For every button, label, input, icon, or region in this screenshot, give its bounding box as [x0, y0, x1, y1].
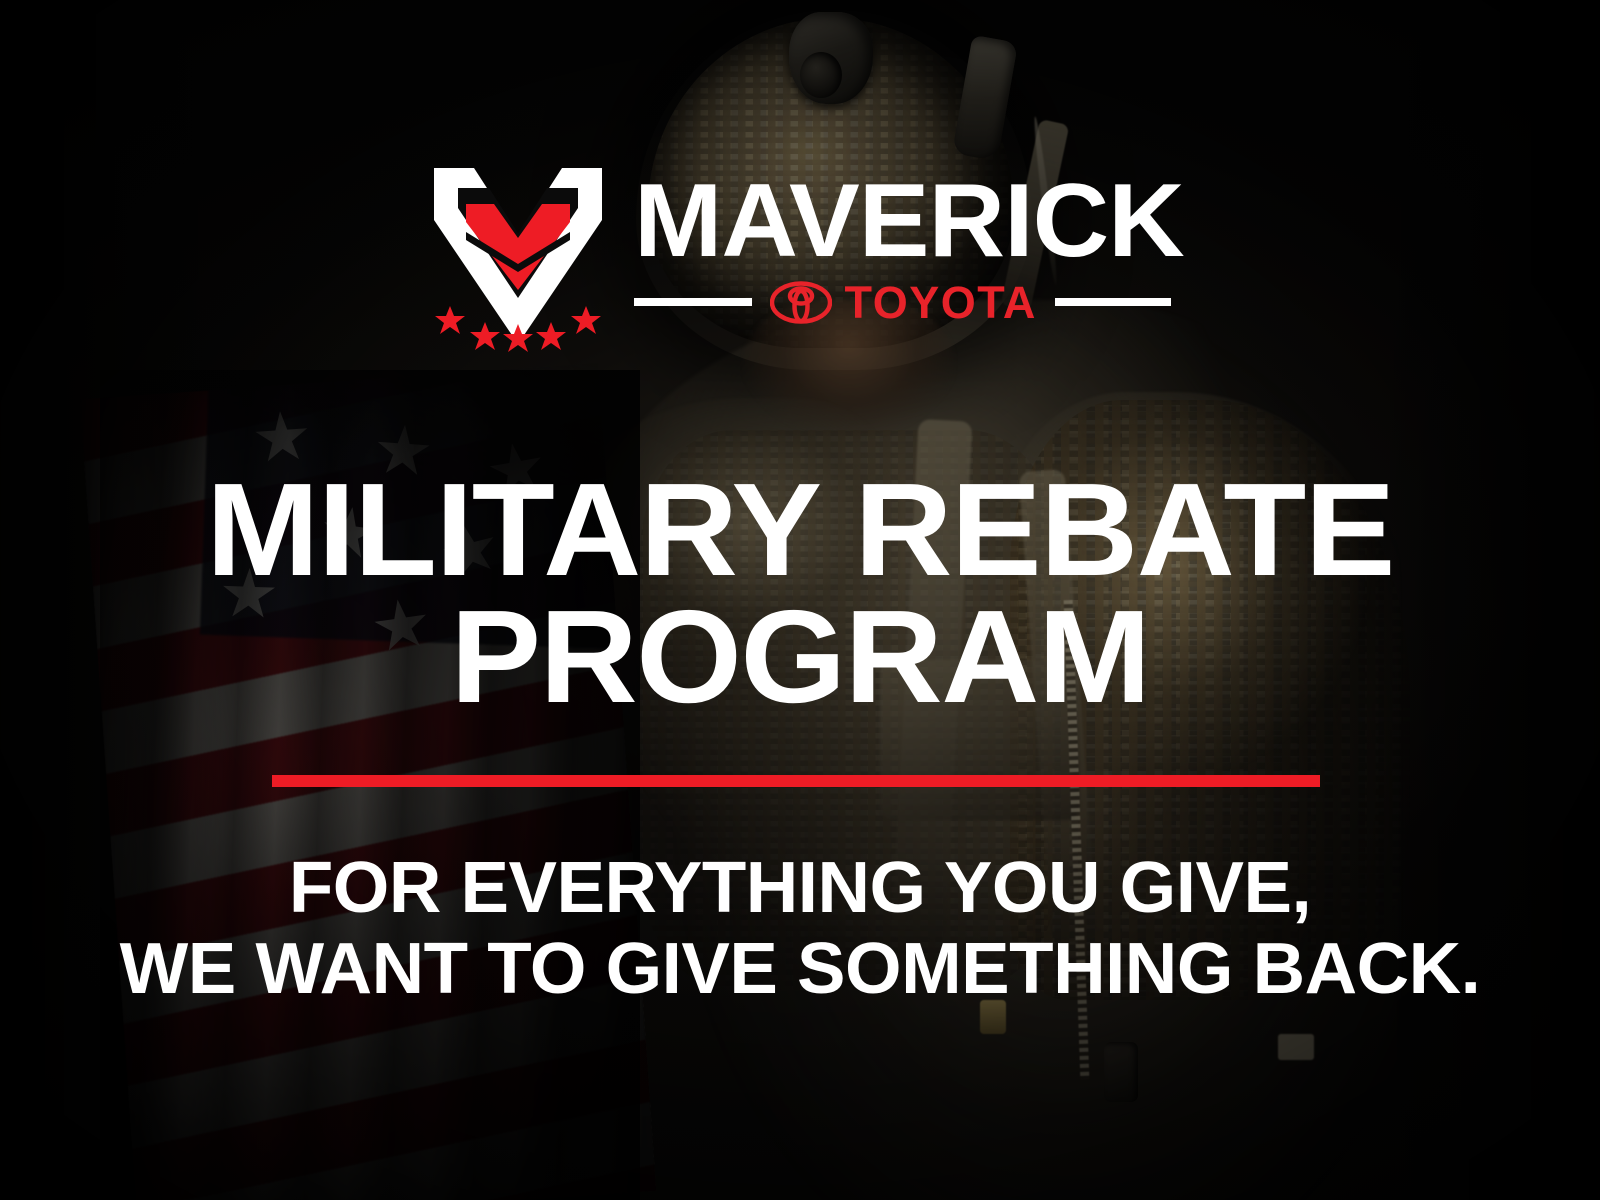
- tagline-line-2: WE WANT TO GIVE SOMETHING BACK.: [0, 929, 1600, 1010]
- tagline: FOR EVERYTHING YOU GIVE, WE WANT TO GIVE…: [0, 848, 1600, 1009]
- toyota-lockup-row: TOYOTA: [634, 279, 1173, 325]
- military-rebate-banner: MAVERICK TOYOTA: [0, 0, 1600, 1200]
- red-divider-rule: [272, 775, 1320, 787]
- brand-name-maverick: MAVERICK: [634, 178, 1184, 265]
- logo-inner: MAVERICK TOYOTA: [428, 162, 1173, 352]
- toyota-ellipses-emblem-icon: [770, 281, 832, 324]
- lockup-rule-right: [1055, 298, 1171, 306]
- toyota-mark: TOYOTA: [770, 280, 1037, 325]
- maverick-chevron-emblem-icon: [428, 162, 608, 352]
- headline-line-2: PROGRAM: [0, 593, 1600, 720]
- banner-content: MAVERICK TOYOTA: [0, 0, 1600, 1200]
- tagline-line-1: FOR EVERYTHING YOU GIVE,: [0, 848, 1600, 929]
- lockup-rule-left: [634, 298, 752, 306]
- logo-lockup[interactable]: MAVERICK TOYOTA: [0, 162, 1600, 358]
- brand-wordmark: MAVERICK TOYOTA: [634, 162, 1173, 325]
- toyota-wordmark: TOYOTA: [845, 280, 1037, 325]
- headline-line-1: MILITARY REBATE: [0, 466, 1600, 593]
- page-title: MILITARY REBATE PROGRAM: [0, 466, 1600, 721]
